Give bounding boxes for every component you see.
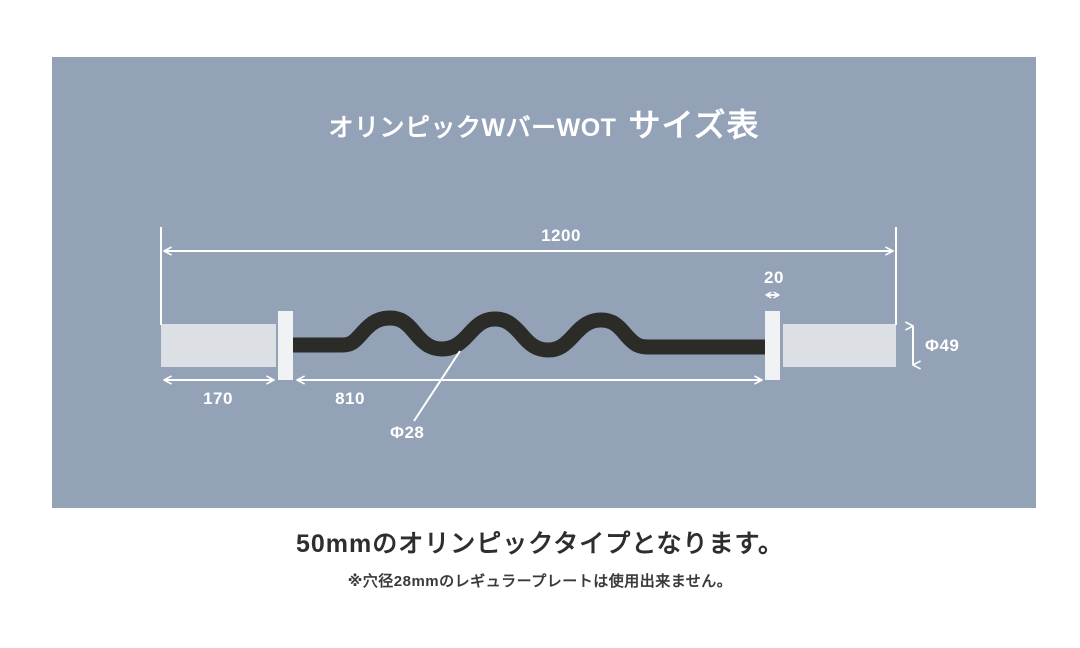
diagram-panel: オリンピックWバーWOTサイズ表 (52, 57, 1036, 508)
page-root: オリンピックWバーWOTサイズ表 (0, 0, 1080, 648)
dimension-label-sleeve-length: 170 (203, 390, 233, 407)
dimension-label-sleeve-diameter: Φ49 (925, 337, 959, 354)
dimension-total-length (161, 227, 896, 325)
caption-note-text: ※穴径28mmのレギュラープレートは使用出来ません。 (0, 572, 1080, 592)
dimension-label-shaft-length: 810 (335, 390, 365, 407)
barbell-shaft (284, 318, 772, 350)
right-collar (765, 311, 780, 380)
dimension-label-shaft-diameter: Φ28 (390, 424, 424, 441)
right-sleeve (783, 324, 896, 367)
dimension-label-collar-width: 20 (764, 269, 784, 286)
left-sleeve (161, 324, 276, 367)
dimension-label-total-length: 1200 (541, 227, 581, 244)
caption-block: 50mmのオリンピックタイプとなります。 ※穴径28mmのレギュラープレートは使… (0, 528, 1080, 591)
leader-line-shaft-diameter (414, 351, 460, 421)
caption-main-text: 50mmのオリンピックタイプとなります。 (0, 528, 1080, 561)
barbell-technical-drawing (52, 57, 1036, 508)
left-collar (278, 311, 293, 380)
